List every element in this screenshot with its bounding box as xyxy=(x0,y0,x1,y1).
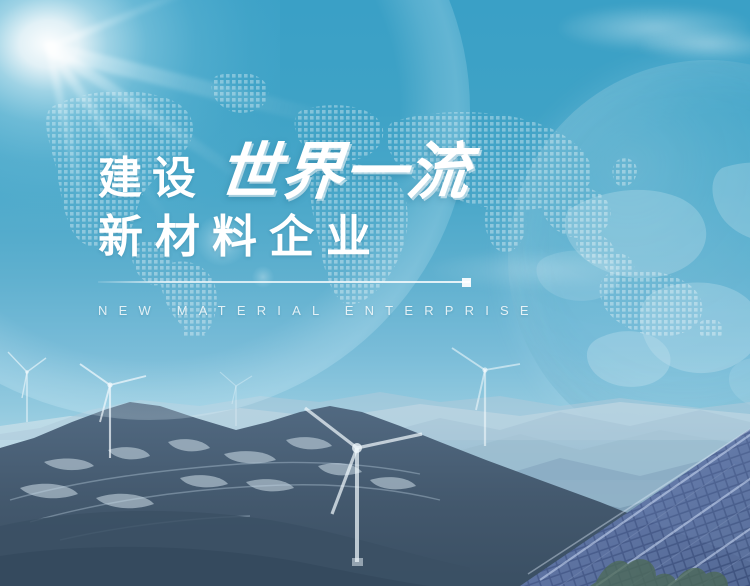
headline-lead: 建设 xyxy=(98,157,206,204)
headline-block: 建设 世界一流 新材料企业 NEW MATERIAL ENTERPRISE xyxy=(98,136,658,318)
headline-emphasis: 世界一流 xyxy=(215,142,474,204)
hero-banner: 建设 世界一流 新材料企业 NEW MATERIAL ENTERPRISE xyxy=(0,0,750,586)
subtitle-text: NEW MATERIAL ENTERPRISE xyxy=(98,303,658,318)
divider-cap xyxy=(462,278,471,287)
cloud-wisp-2 xyxy=(640,30,750,60)
headline-primary-row: 建设 世界一流 xyxy=(98,136,658,204)
headline-second-line: 新材料企业 xyxy=(98,214,658,259)
divider-rule xyxy=(98,281,470,283)
